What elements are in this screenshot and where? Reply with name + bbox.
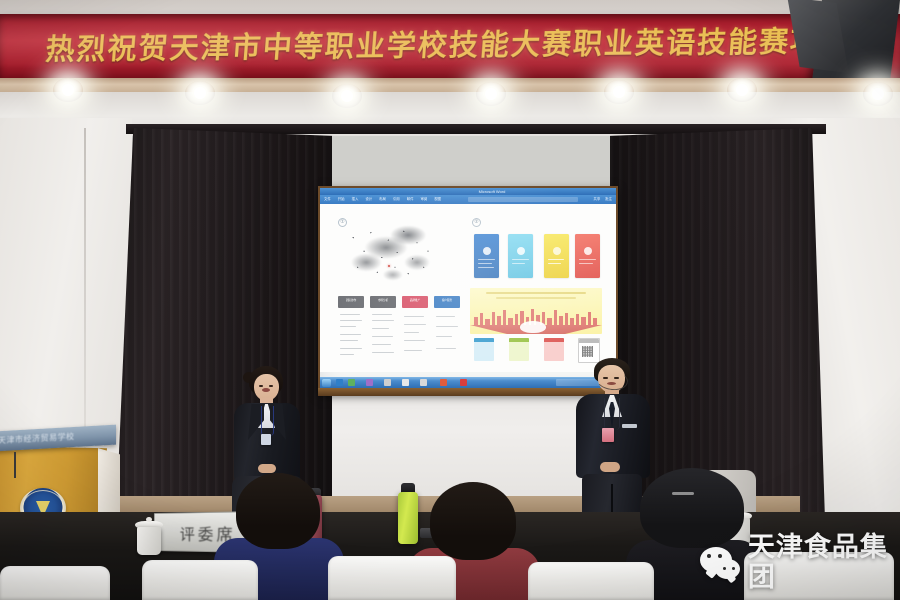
ribbon-tab[interactable]: 审阅 — [420, 195, 427, 204]
info-card-header: 团队协作 — [338, 296, 364, 308]
audience-center-head — [430, 482, 516, 560]
tea-cup-left — [137, 527, 161, 555]
chair-cover — [328, 556, 456, 600]
ribbon-tab[interactable]: 开始 — [338, 195, 345, 204]
small-card — [474, 338, 494, 361]
city-skyline-graphic — [470, 308, 602, 334]
podium-microphone-stem — [14, 452, 16, 478]
qr-code-icon — [582, 346, 593, 357]
document-canvas: ① ② 团队协作 市场分析 品牌推广 客户服务 — [320, 204, 616, 372]
taskbar-icon[interactable] — [348, 379, 355, 386]
info-card-header: 市场分析 — [370, 296, 396, 308]
mouth — [607, 382, 616, 385]
taskbar-icon[interactable] — [460, 379, 467, 386]
color-card — [508, 234, 533, 278]
clasped-hands — [600, 462, 620, 472]
ribbon-tab[interactable]: 设计 — [365, 195, 372, 204]
ribbon-tab[interactable]: 视图 — [434, 195, 441, 204]
soffit-trim — [0, 78, 900, 92]
clasped-hands — [258, 464, 276, 473]
panel-title-line — [486, 292, 586, 294]
map-image — [340, 224, 450, 286]
photo-scene: 热烈祝贺天津市中等职业学校技能大赛职业英语技能赛项圆 Microsoft Wor… — [0, 0, 900, 600]
ceiling-light — [604, 80, 634, 104]
taskbar-icon[interactable] — [336, 379, 343, 386]
color-card — [544, 234, 569, 278]
lanyard — [604, 398, 620, 430]
audience-left-head — [236, 473, 320, 549]
chair-cover — [0, 566, 110, 600]
contestant-badge — [261, 434, 271, 445]
map-detail-speckle — [340, 224, 450, 286]
ceiling-light — [332, 84, 362, 108]
info-card-header: 品牌推广 — [402, 296, 428, 308]
ribbon-right-actions: 共享 批注 — [593, 195, 612, 204]
eye-right — [269, 385, 273, 387]
ceiling-light — [476, 82, 506, 106]
chair-cover — [528, 562, 654, 600]
eye-left — [259, 385, 263, 387]
ceiling-light — [863, 82, 893, 106]
app-titlebar: Microsoft Word — [320, 188, 616, 195]
ribbon-tab[interactable]: 文件 — [324, 195, 331, 204]
card-text-columns — [338, 310, 460, 362]
color-card — [474, 234, 499, 278]
start-button-icon[interactable] — [322, 379, 331, 387]
taskbar-icon[interactable] — [384, 379, 391, 386]
top-color-cards — [474, 234, 600, 280]
green-water-bottle — [398, 492, 418, 544]
taskbar-icon[interactable] — [440, 379, 447, 386]
ceiling-light — [53, 78, 83, 102]
chair-cover — [142, 560, 258, 600]
ceiling-light — [185, 81, 215, 105]
pocket-square — [622, 424, 637, 428]
ribbon-tab[interactable]: 布局 — [379, 195, 386, 204]
color-card — [575, 234, 600, 278]
left-card-strip: 团队协作 市场分析 品牌推广 客户服务 — [338, 296, 460, 362]
skyline-panel — [470, 288, 602, 334]
podium-school-name: 天津市经济贸易学校 — [0, 429, 110, 447]
small-card — [544, 338, 564, 361]
wechat-icon — [700, 547, 740, 579]
contestant-badge — [602, 428, 614, 442]
small-card — [509, 338, 529, 361]
lanyard — [261, 406, 274, 436]
mouth — [262, 388, 270, 392]
banner-text: 热烈祝贺天津市中等职业学校技能大赛职业英语技能赛项圆 — [44, 18, 878, 73]
panel-subtitle-line — [496, 297, 576, 299]
wechat-watermark: 天津食品集团 — [700, 533, 900, 593]
taskbar-icon[interactable] — [402, 379, 409, 386]
cap-logo — [672, 492, 694, 495]
taskbar-icon[interactable] — [366, 379, 373, 386]
tea-cup-knob — [146, 517, 152, 522]
watermark-text: 天津食品集团 — [748, 533, 900, 593]
taskbar-icon[interactable] — [420, 379, 427, 386]
share-button[interactable]: 共享 — [593, 195, 600, 204]
ribbon-search-box[interactable] — [468, 197, 578, 202]
congratulation-banner: 热烈祝贺天津市中等职业学校技能大赛职业英语技能赛项圆 — [0, 14, 900, 78]
ribbon-tab[interactable]: 引用 — [393, 195, 400, 204]
comments-button[interactable]: 批注 — [605, 195, 612, 204]
info-card-header: 客户服务 — [434, 296, 460, 308]
wall-corner-line — [84, 128, 86, 458]
ribbon-tabs: 文件 开始 插入 设计 布局 引用 邮件 审阅 视图 — [324, 195, 441, 204]
ribbon-tab[interactable]: 邮件 — [407, 195, 414, 204]
app-title: Microsoft Word — [432, 188, 552, 195]
section-number-2: ② — [472, 218, 481, 227]
ribbon-tab[interactable]: 插入 — [352, 195, 359, 204]
ceiling-light — [727, 78, 757, 102]
